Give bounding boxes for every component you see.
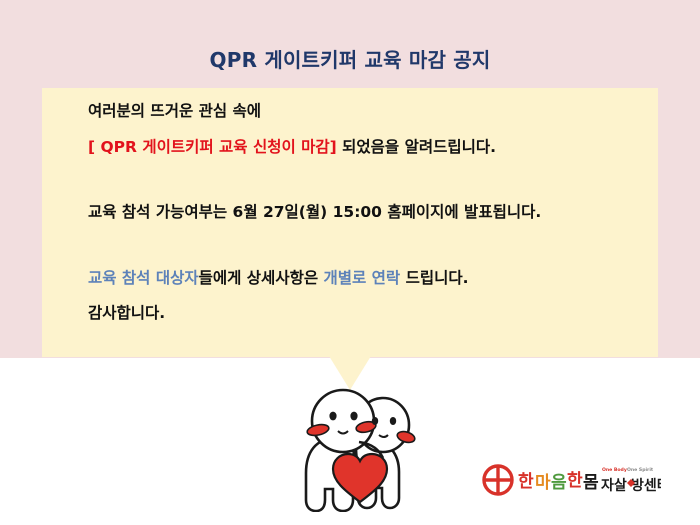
participants-highlight: 교육 참석 대상자: [88, 269, 199, 287]
svg-text:자살: 자살: [601, 477, 627, 494]
svg-text:One Body: One Body: [602, 467, 627, 473]
svg-text:한: 한: [567, 471, 583, 491]
mascot-illustration: [299, 380, 421, 512]
message-line-5: 감사합니다.: [88, 306, 648, 322]
message-line-1-text: 여러분의 뜨거운 관심 속에: [88, 102, 261, 120]
svg-text:방센터: 방센터: [631, 477, 661, 494]
svg-text:One Spirit: One Spirit: [627, 467, 654, 473]
closed-notice-highlight: [ QPR 게이트키퍼 교육 신청이 마감]: [88, 138, 337, 156]
announcement-poster: QPR 게이트키퍼 교육 마감 공지 여러분의 뜨거운 관심 속에 [ QPR …: [0, 0, 700, 525]
page-title: QPR 게이트키퍼 교육 마감 공지: [0, 44, 700, 73]
participants-rest-2: 드립니다.: [400, 269, 468, 287]
svg-text:한: 한: [518, 472, 534, 492]
message-line-3: 교육 참석 가능여부는 6월 27일(월) 15:00 홈페이지에 발표됩니다.: [88, 205, 648, 221]
svg-text:몸: 몸: [583, 473, 599, 493]
organization-logo: 한 마 음 한 몸 One Body One Spirit 자살 방센터: [481, 458, 661, 504]
thanks-text: 감사합니다.: [88, 304, 165, 322]
result-announcement-text: 교육 참석 가능여부는 6월 27일(월) 15:00 홈페이지에 발표됩니다.: [88, 203, 541, 221]
message-body: 여러분의 뜨거운 관심 속에 [ QPR 게이트키퍼 교육 신청이 마감] 되었…: [88, 104, 648, 322]
message-line-2: [ QPR 게이트키퍼 교육 신청이 마감] 되었음을 알려드립니다.: [88, 140, 648, 156]
svg-text:음: 음: [551, 473, 567, 493]
contact-highlight: 개별로 연락: [324, 269, 401, 287]
closed-notice-rest: 되었음을 알려드립니다.: [337, 138, 496, 156]
svg-text:마: 마: [535, 473, 551, 493]
message-line-4: 교육 참석 대상자들에게 상세사항은 개별로 연락 드립니다.: [88, 271, 648, 287]
circle-cross-icon: [484, 466, 512, 494]
participants-rest-1: 들에게 상세사항은: [199, 269, 324, 287]
message-line-1: 여러분의 뜨거운 관심 속에: [88, 104, 648, 120]
